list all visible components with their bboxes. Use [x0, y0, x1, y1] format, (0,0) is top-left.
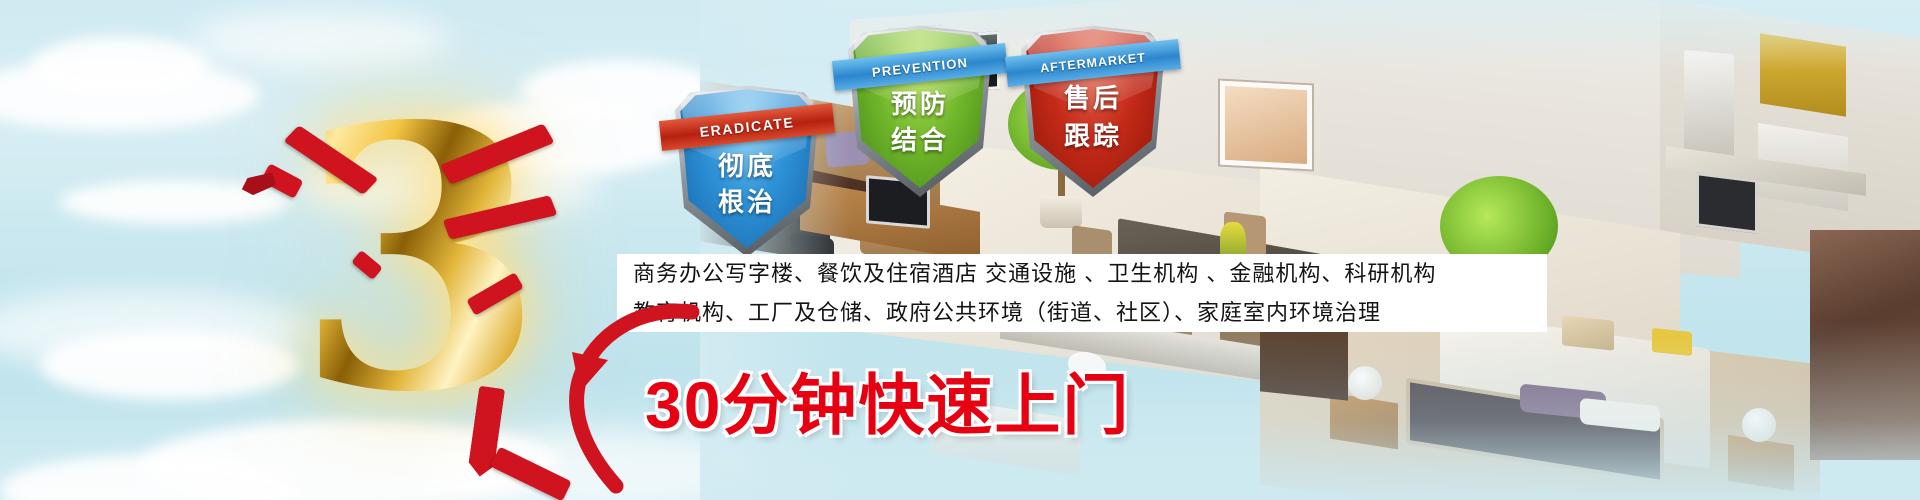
headline-text: 30分钟快速上门	[645, 352, 1130, 448]
service-scope-line-1: 商务办公写字楼、餐饮及住宿酒店 交通设施 、卫生机构 、金融机构、科研机构	[617, 254, 1547, 293]
shield-badge-prevention: 预防 结合 PREVENTION	[845, 22, 995, 197]
red-arrow-icon	[520, 300, 710, 500]
shield-badge-aftermarket: 售后 跟踪 AFTERMARKET	[1018, 22, 1168, 197]
shield-chinese-line2: 根治	[672, 182, 822, 219]
service-scope-line-2: 教育机构、工厂及仓储、政府公共环境（街道、社区）、家庭室内环境治理	[617, 293, 1547, 332]
shield-chinese-line1: 彻底	[672, 146, 822, 183]
service-scope-panel: 商务办公写字楼、餐饮及住宿酒店 交通设施 、卫生机构 、金融机构、科研机构 教育…	[617, 254, 1547, 332]
shield-chinese-line2: 跟踪	[1018, 116, 1168, 153]
shield-chinese-line2: 结合	[845, 120, 995, 157]
shield-chinese-line1: 预防	[845, 84, 995, 121]
shield-badge-eradicate: 彻底 根治 ERADICATE	[672, 82, 822, 257]
promo-banner: 3 彻底 根治 ERADICATE 预防 结合 PREVENTION 售后 跟踪…	[0, 0, 1920, 500]
cloud-icon	[30, 36, 210, 96]
